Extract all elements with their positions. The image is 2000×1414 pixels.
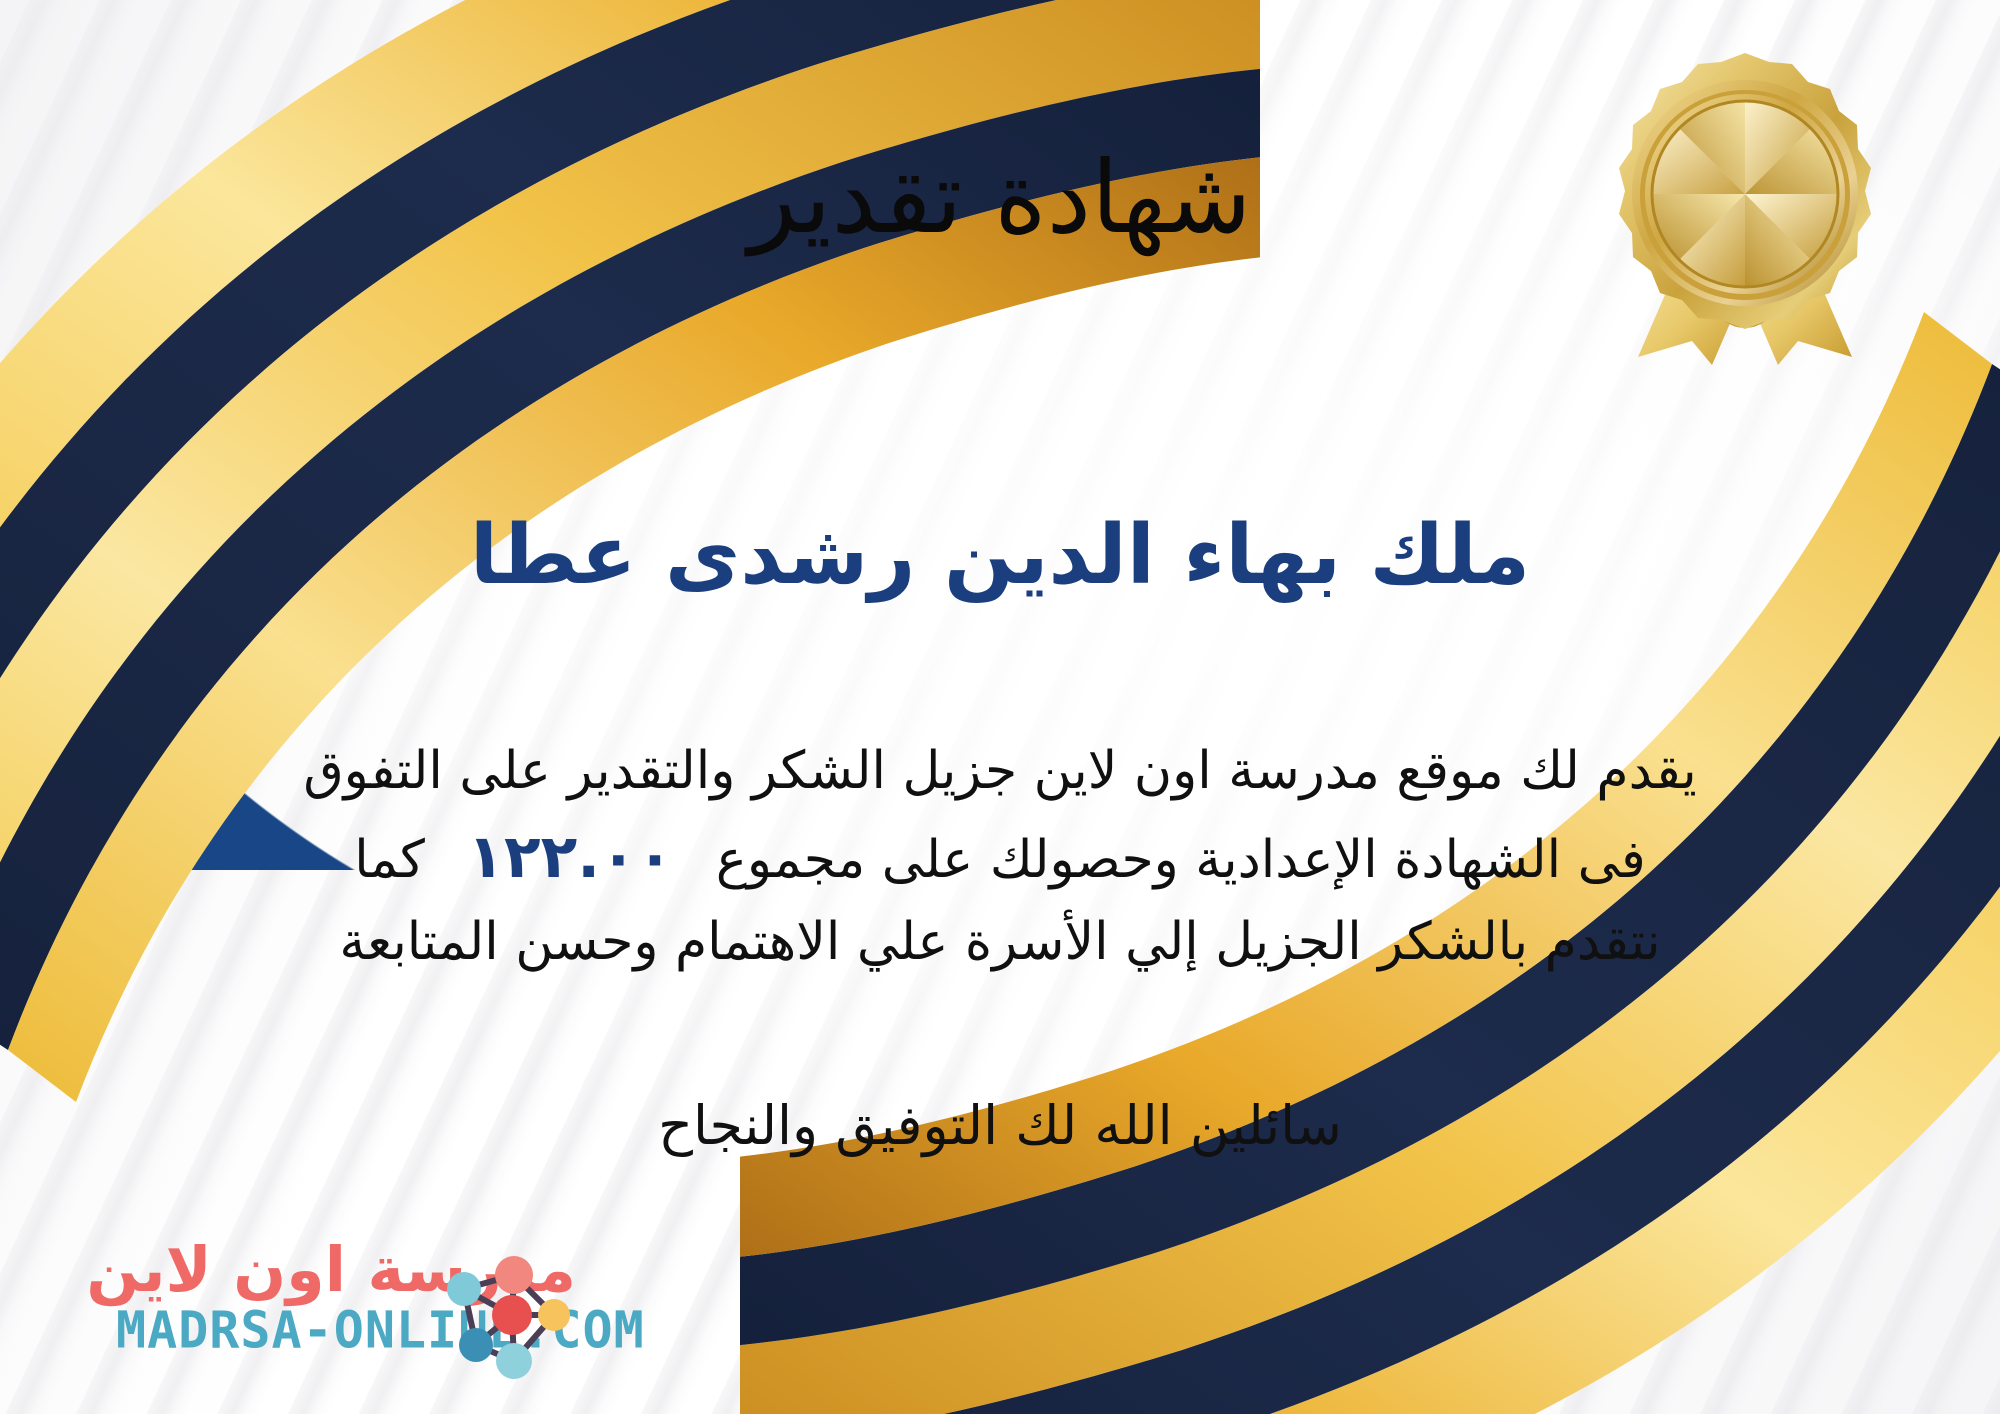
body-line-3: نتقدم بالشكر الجزيل إلي الأسرة علي الاهت…: [60, 906, 1940, 980]
closing-line: سائلين الله لك التوفيق والنجاح: [0, 1090, 2000, 1163]
certificate-title: شهادة تقدير: [0, 135, 2000, 260]
recipient-name: ملك بهاء الدين رشدى عطا: [0, 505, 2000, 608]
network-nodes-icon: [434, 1253, 584, 1383]
total-score-value: ١٢٢.٠٠: [441, 815, 699, 900]
brand-logo[interactable]: مدرسة اون لاين MADRSA-ONLINE.COM: [28, 1231, 588, 1396]
certificate-canvas: شهادة تقدير ملك بهاء الدين رشدى عطا يقدم…: [0, 0, 2000, 1414]
body-line-2-right: فى الشهادة الإعدادية وحصولك على مجموع: [716, 830, 1646, 890]
body-line-1: يقدم لك موقع مدرسة اون لاين جزيل الشكر و…: [60, 735, 1940, 809]
certificate-content: شهادة تقدير ملك بهاء الدين رشدى عطا يقدم…: [0, 0, 2000, 1414]
body-line-2-left: كما: [354, 830, 425, 890]
body-line-2: فى الشهادة الإعدادية وحصولك على مجموع ١٢…: [60, 815, 1940, 900]
certificate-body: يقدم لك موقع مدرسة اون لاين جزيل الشكر و…: [60, 735, 1940, 980]
